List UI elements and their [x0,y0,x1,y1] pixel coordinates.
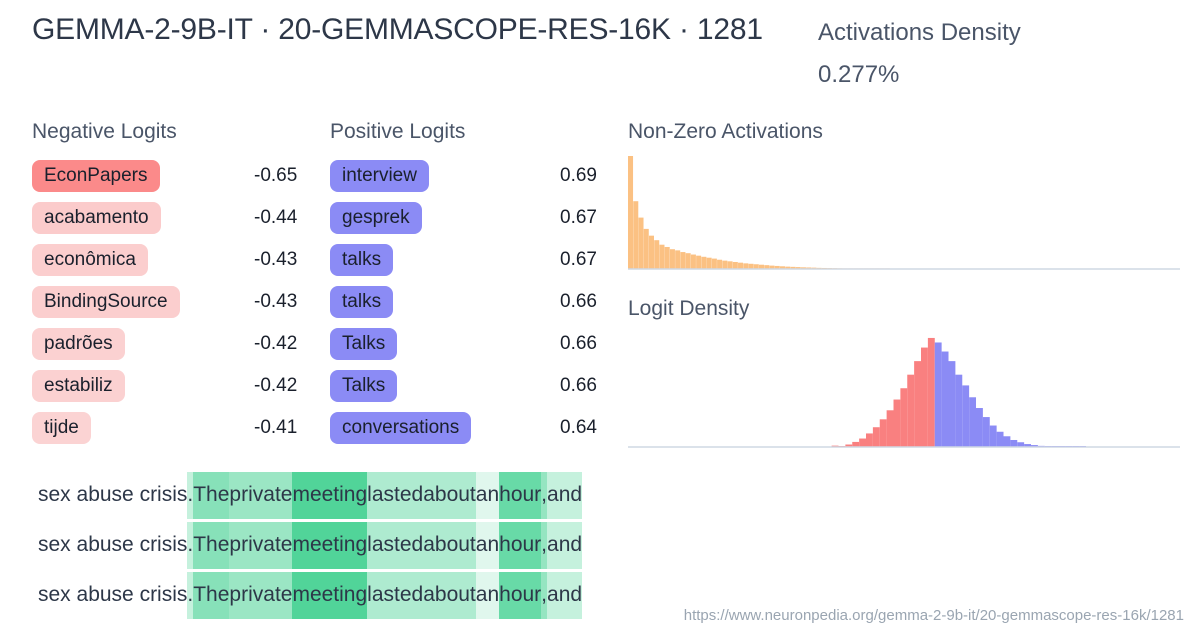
positive-logit-value: 0.66 [560,291,610,313]
logit-density-chart [628,328,1180,449]
negative-logit-token[interactable]: econômica [32,244,148,276]
non-zero-activations-heading: Non-Zero Activations [628,120,823,144]
negative-logit-row[interactable]: BindingSource-0.43 [32,281,310,323]
activation-token[interactable]: hour [499,522,541,569]
activation-token[interactable]: private [229,522,292,569]
activation-token[interactable]: and [547,572,582,619]
positive-logit-token[interactable]: talks [330,286,393,318]
positive-logit-value: 0.66 [560,333,610,355]
activation-token[interactable]: meeting [292,572,367,619]
negative-logit-value: -0.42 [254,375,310,397]
negative-logit-token[interactable]: estabiliz [32,370,125,402]
negative-logit-value: -0.42 [254,333,310,355]
negative-logit-token[interactable]: BindingSource [32,286,180,318]
activation-token[interactable]: meeting [292,472,367,519]
activation-text-row[interactable]: sex abuse crisis. The private meeting la… [0,520,1200,570]
negative-logit-row[interactable]: acabamento-0.44 [32,197,310,239]
negative-logit-token[interactable]: EconPapers [32,160,160,192]
activation-token[interactable]: and [547,472,582,519]
activation-token[interactable]: hour [499,472,541,519]
activation-prefix-text: sex abuse crisis [38,472,187,519]
activation-token[interactable]: The [193,572,229,619]
positive-logit-value: 0.67 [560,249,610,271]
positive-logit-token[interactable]: interview [330,160,429,192]
activation-token[interactable]: lasted [367,522,423,569]
positive-logit-token[interactable]: gesprek [330,202,422,234]
logit-density-heading: Logit Density [628,297,749,321]
activation-token[interactable]: an [476,522,499,569]
negative-logit-row[interactable]: EconPapers-0.65 [32,155,310,197]
positive-logit-token[interactable]: Talks [330,328,397,360]
activation-token[interactable]: The [193,472,229,519]
page-header: GEMMA-2-9B-IT · 20-GEMMASCOPE-RES-16K · … [0,0,1200,108]
positive-logit-token[interactable]: talks [330,244,393,276]
page-title: GEMMA-2-9B-IT · 20-GEMMASCOPE-RES-16K · … [32,8,812,52]
activations-density-value: 0.277% [818,54,1188,96]
activation-token[interactable]: an [476,572,499,619]
negative-logit-value: -0.43 [254,291,310,313]
positive-logit-row[interactable]: talks0.67 [330,239,610,281]
activation-token[interactable]: about [423,572,476,619]
positive-logit-value: 0.66 [560,375,610,397]
positive-logit-token[interactable]: conversations [330,412,471,444]
activation-token[interactable]: lasted [367,472,423,519]
activation-text-row[interactable]: sex abuse crisis. The private meeting la… [0,470,1200,520]
activation-token[interactable]: meeting [292,522,367,569]
negative-logit-value: -0.65 [254,165,310,187]
activation-prefix-text: sex abuse crisis [38,572,187,619]
negative-logit-row[interactable]: padrões-0.42 [32,323,310,365]
activation-text-list: sex abuse crisis. The private meeting la… [0,470,1200,620]
positive-logit-row[interactable]: Talks0.66 [330,323,610,365]
negative-logit-token[interactable]: padrões [32,328,125,360]
activation-token[interactable]: about [423,472,476,519]
positive-logit-row[interactable]: Talks0.66 [330,365,610,407]
activation-token[interactable]: The [193,522,229,569]
source-url-watermark: https://www.neuronpedia.org/gemma-2-9b-i… [684,607,1184,624]
positive-logit-value: 0.67 [560,207,610,229]
activation-token[interactable]: lasted [367,572,423,619]
activations-density-label: Activations Density [818,12,1188,54]
positive-logit-token[interactable]: Talks [330,370,397,402]
positive-logit-row[interactable]: interview0.69 [330,155,610,197]
activations-density: Activations Density 0.277% [818,12,1188,96]
positive-logit-row[interactable]: conversations0.64 [330,407,610,449]
positive-logits-heading: Positive Logits [330,120,465,144]
positive-logit-value: 0.64 [560,417,610,439]
negative-logits-heading: Negative Logits [32,120,177,144]
negative-logit-row[interactable]: estabiliz-0.42 [32,365,310,407]
positive-logit-row[interactable]: talks0.66 [330,281,610,323]
activation-token[interactable]: hour [499,572,541,619]
positive-logit-value: 0.69 [560,165,610,187]
negative-logit-value: -0.44 [254,207,310,229]
negative-logit-token[interactable]: acabamento [32,202,161,234]
activation-token[interactable]: about [423,522,476,569]
negative-logit-token[interactable]: tijde [32,412,91,444]
activation-token[interactable]: private [229,472,292,519]
positive-logits-list: interview0.69gesprek0.67talks0.67talks0.… [330,155,610,449]
activation-token[interactable]: an [476,472,499,519]
non-zero-activations-chart [628,152,1180,271]
activation-token[interactable]: and [547,522,582,569]
negative-logit-row[interactable]: econômica-0.43 [32,239,310,281]
negative-logit-row[interactable]: tijde-0.41 [32,407,310,449]
negative-logit-value: -0.41 [254,417,310,439]
activation-token[interactable]: private [229,572,292,619]
positive-logit-row[interactable]: gesprek0.67 [330,197,610,239]
negative-logit-value: -0.43 [254,249,310,271]
activation-prefix-text: sex abuse crisis [38,522,187,569]
negative-logits-list: EconPapers-0.65acabamento-0.44econômica-… [32,155,310,449]
